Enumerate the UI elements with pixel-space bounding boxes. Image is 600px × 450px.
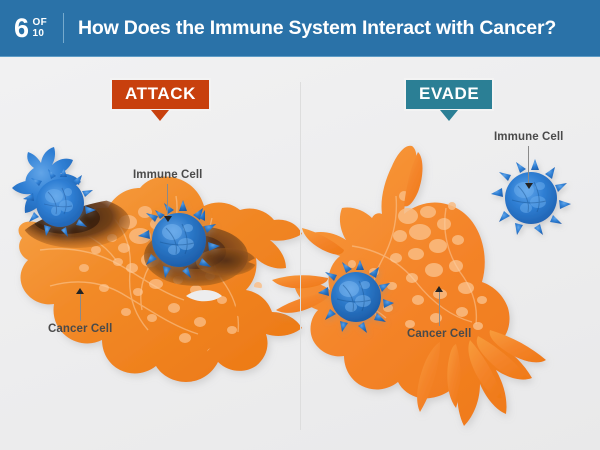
attack-badge-pointer [151, 110, 169, 121]
step-counter: 6 OF 10 [14, 15, 47, 42]
attack-badge: ATTACK [110, 78, 211, 121]
step-fraction: OF 10 [33, 17, 48, 39]
page-header: 6 OF 10 How Does the Immune System Inter… [0, 0, 600, 57]
step-of-word: OF [33, 17, 48, 28]
page-title: How Does the Immune System Interact with… [78, 17, 556, 40]
step-total: 10 [33, 28, 48, 39]
panel-divider [300, 82, 301, 430]
right-immune-cell-upper [491, 159, 571, 235]
header-separator [63, 13, 64, 43]
evade-badge-pointer [440, 110, 458, 121]
step-number: 6 [14, 15, 29, 42]
right-cancer-cell [272, 146, 546, 426]
evade-badge-label: EVADE [404, 78, 494, 111]
evade-badge: EVADE [404, 78, 494, 121]
infographic-canvas: 6 OF 10 How Does the Immune System Inter… [0, 0, 600, 450]
attack-badge-label: ATTACK [110, 78, 211, 111]
